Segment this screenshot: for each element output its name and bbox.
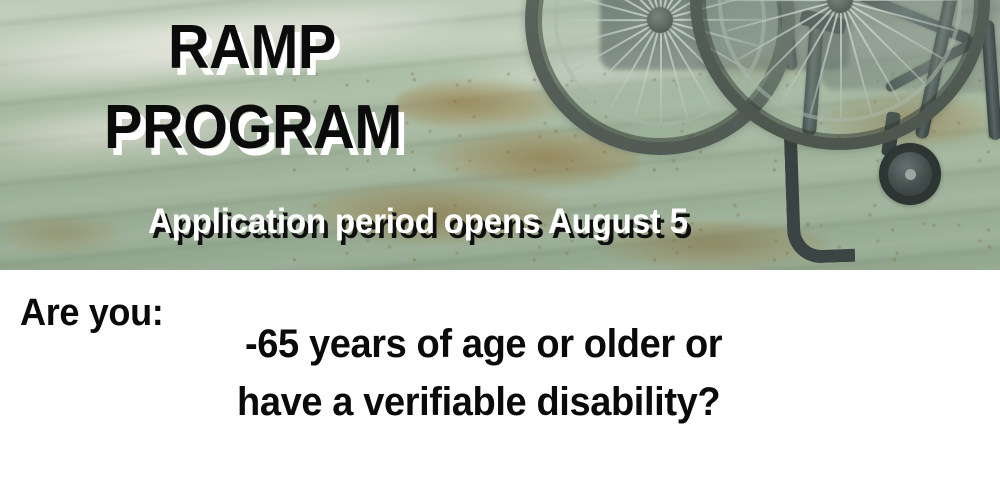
eligibility-prompt: Are you: <box>20 292 163 334</box>
flyer-subtitle: Application period opens August 5 <box>148 203 688 241</box>
flyer-title-line-1: RAMP <box>168 16 336 80</box>
flyer-title-line-2: PROGRAM <box>104 96 402 160</box>
hero-photo-banner: RAMP PROGRAM Application period opens Au… <box>0 0 1000 270</box>
eligibility-criterion-age: -65 years of age or older or <box>245 322 722 366</box>
ramp-program-flyer: RAMP PROGRAM Application period opens Au… <box>0 0 1000 500</box>
eligibility-criterion-disability: have a verifiable disability? <box>237 380 720 424</box>
hero-text-block: RAMP PROGRAM Application period opens Au… <box>0 0 1000 270</box>
